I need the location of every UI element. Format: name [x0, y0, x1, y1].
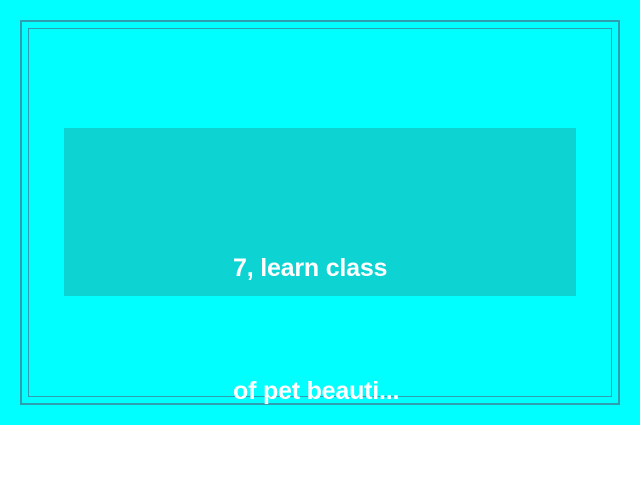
page-canvas: 7, learn class of pet beauti...	[0, 0, 640, 425]
panel-text-block: 7, learn class of pet beauti...	[233, 166, 563, 494]
panel-text-line-2: of pet beauti...	[233, 371, 563, 412]
panel-text-line-1: 7, learn class	[233, 248, 563, 289]
content-panel: 7, learn class of pet beauti...	[64, 128, 576, 296]
